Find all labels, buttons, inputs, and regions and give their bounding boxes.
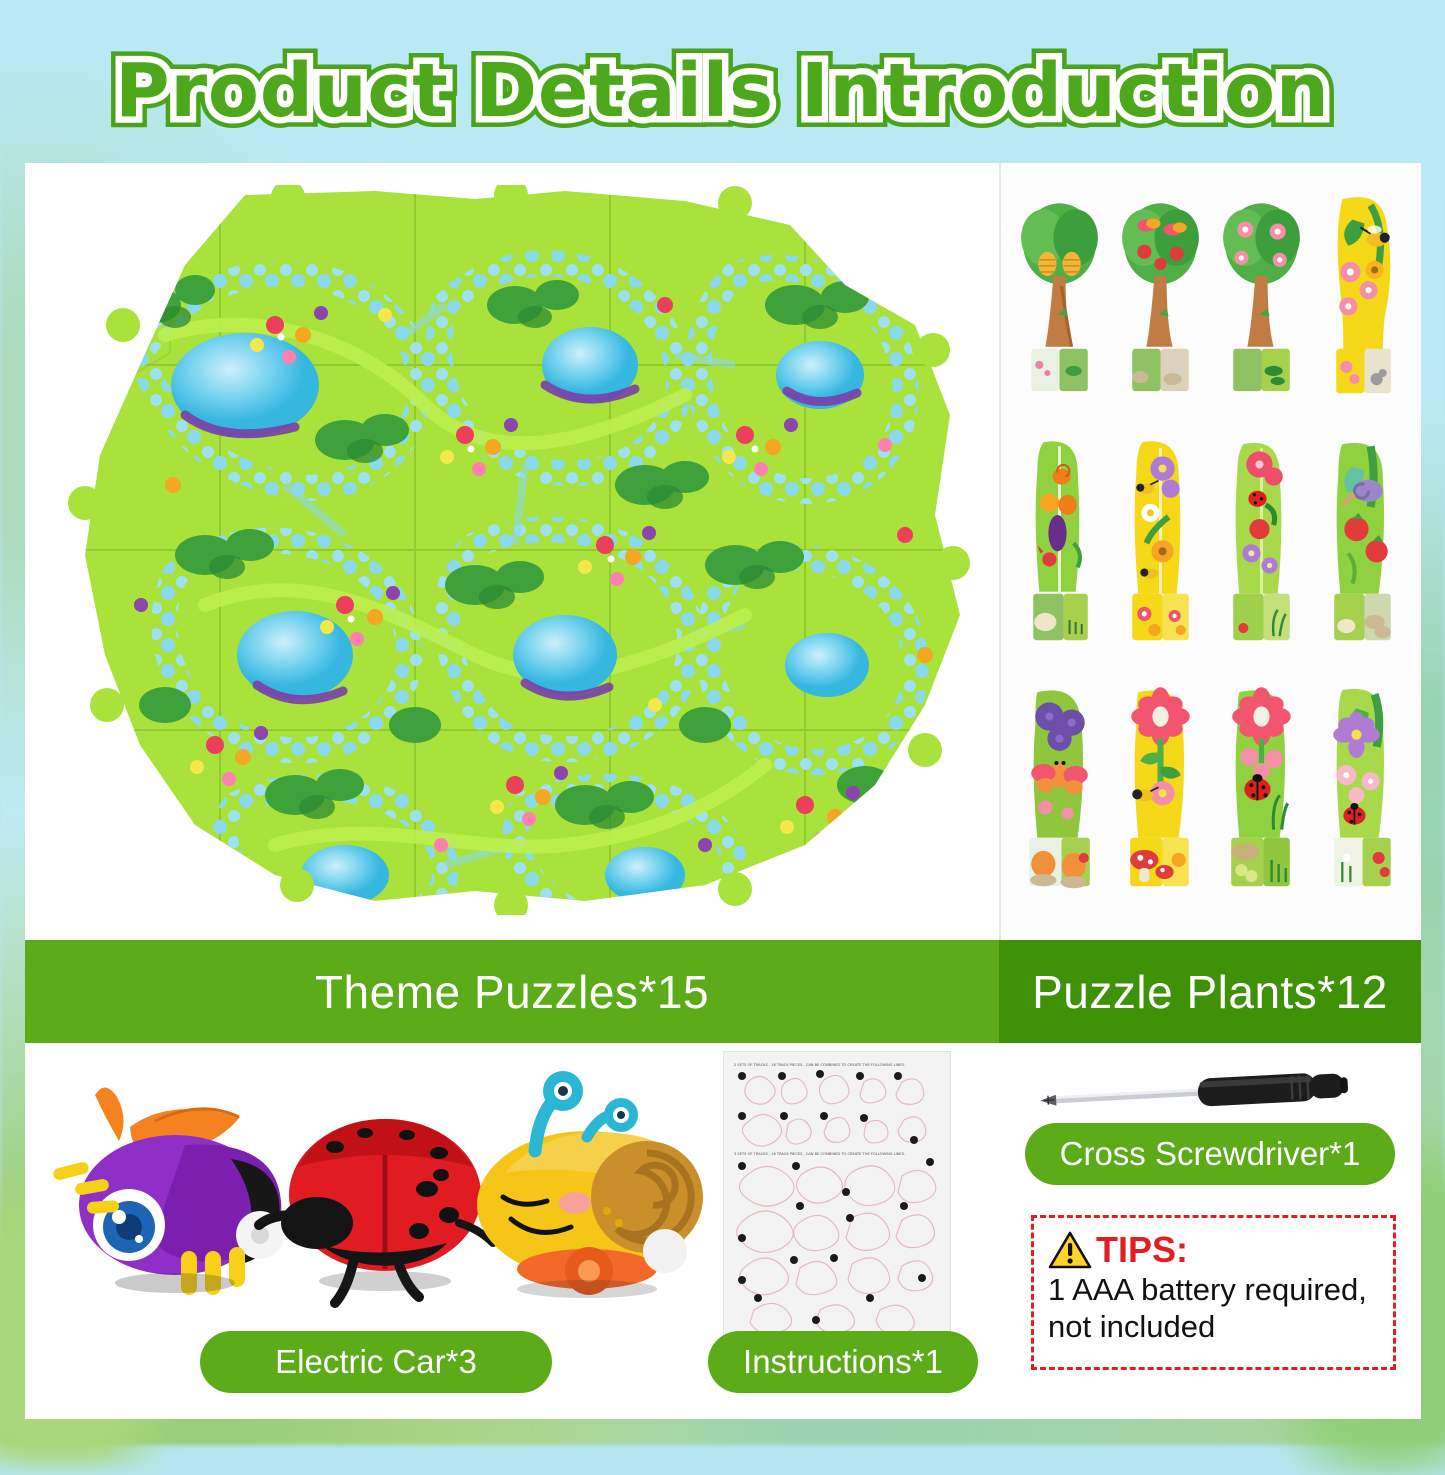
puzzle-mat-image (45, 185, 979, 915)
plant-blueberry-butterfly-panel (1009, 676, 1110, 923)
plant-yellow-flower-vine-with-bees (1110, 430, 1211, 677)
puzzle-plants-label: Puzzle Plants*12 (999, 940, 1421, 1043)
puzzle-plants-panel (1001, 163, 1421, 940)
svg-text:3 SETS OF TRACKS , 16 TRACK PI: 3 SETS OF TRACKS , 16 TRACK PIECES , CAN… (734, 1152, 905, 1156)
plant-pink-daisy-ladybug-panel (1211, 676, 1312, 923)
plant-blossom-tree (1211, 183, 1312, 430)
plant-snail-and-tomato-panel (1312, 430, 1413, 677)
screwdriver-image (1010, 1063, 1380, 1123)
top-section (25, 163, 1421, 940)
plant-pink-flower-vine-with-ladybug (1211, 430, 1312, 677)
plant-apple-tree-with-butterflies (1110, 183, 1211, 430)
warning-triangle-icon (1048, 1230, 1092, 1270)
tips-box: TIPS: 1 AAA battery required, not includ… (1031, 1215, 1396, 1370)
screwdriver-badge[interactable]: Cross Screwdriver*1 (1025, 1123, 1395, 1185)
tips-line-2: not included (1048, 1309, 1379, 1346)
theme-puzzles-label: Theme Puzzles*15 (25, 940, 999, 1043)
instructions-sheet-image: 2 SETS OF TRACKS , 16 TRACK PIECES , CAN… (723, 1051, 951, 1343)
tips-heading: TIPS: (1096, 1232, 1188, 1268)
plant-vegetable-vine-panel (1009, 430, 1110, 677)
instructions-badge[interactable]: Instructions*1 (708, 1331, 978, 1393)
plant-yellow-flower-panel-with-bee (1312, 183, 1413, 430)
tips-line-1: 1 AAA battery required, (1048, 1272, 1379, 1309)
plant-purple-flower-ladybug-panel (1312, 676, 1413, 923)
plant-tree-with-beehives (1009, 183, 1110, 430)
puzzle-mat-panel (25, 163, 999, 940)
content-card: Theme Puzzles*15 Puzzle Plants*12 (25, 163, 1421, 1419)
plant-pink-daisy-mushroom-panel (1110, 676, 1211, 923)
page-title: Product Details Introduction Product Det… (0, 48, 1445, 148)
electric-car-badge[interactable]: Electric Car*3 (200, 1331, 552, 1393)
section-label-bars: Theme Puzzles*15 Puzzle Plants*12 (25, 940, 1421, 1043)
svg-text:2 SETS OF TRACKS , 16 TRACK PI: 2 SETS OF TRACKS , 16 TRACK PIECES , CAN… (734, 1063, 905, 1067)
puzzle-plants-grid (1009, 183, 1413, 923)
tips-heading-row: TIPS: (1048, 1230, 1379, 1270)
electric-cars-image (35, 1055, 725, 1315)
page-title-fill: Product Details Introduction (0, 48, 1445, 148)
bottom-section: Electric Car*3 2 SETS OF TRACKS , 16 TRA… (25, 1043, 1421, 1419)
